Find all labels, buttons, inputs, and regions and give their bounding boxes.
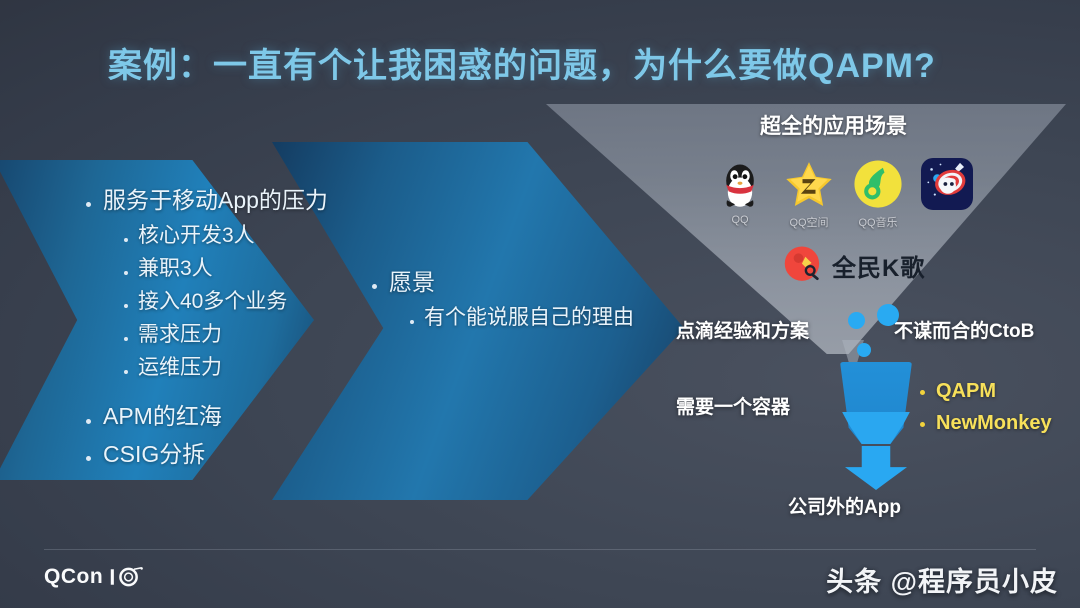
- list-item: 有个能说服自己的理由: [410, 307, 672, 329]
- bullet-dot-icon: [920, 390, 925, 395]
- product-list: QAPM NewMonkey: [920, 380, 1080, 444]
- list-item-label: 需求压力: [138, 324, 222, 346]
- karaoke-label: 全民K歌: [832, 248, 925, 283]
- qq-music-icon: [852, 158, 904, 210]
- karaoke-app-row: 全民K歌: [782, 243, 925, 287]
- bullet-dot-icon: [86, 202, 91, 207]
- bullet-dot-icon: [86, 419, 91, 424]
- annotation-experience: 点滴经验和方案: [676, 316, 809, 343]
- bullet-dot-icon: [124, 304, 128, 308]
- list-item: CSIG分拆: [86, 442, 366, 466]
- presentation-slide: 案例：一直有个让我困惑的问题，为什么要做QAPM? 服务于移动App的压力 核心…: [0, 0, 1080, 608]
- qq-zone-icon: [783, 158, 835, 210]
- list-item: QAPM: [920, 380, 1080, 403]
- watermark: 头条 @程序员小皮: [826, 560, 1058, 599]
- qcon-wordmark: QCon: [44, 565, 103, 589]
- list-item: 运维压力: [124, 357, 366, 379]
- stage-one-bullet-list: 服务于移动App的压力 核心开发3人 兼职3人 接入40多个业务 需求压力 运维…: [86, 188, 366, 479]
- list-item-label: APM的红海: [103, 404, 222, 428]
- page-title: 案例：一直有个让我困惑的问题，为什么要做QAPM?: [108, 38, 1008, 87]
- list-item: 服务于移动App的压力: [86, 188, 366, 212]
- app-caption: QQ: [731, 214, 748, 226]
- app-item-qq-zone: QQ空间: [781, 158, 837, 230]
- list-item: 兼职3人: [124, 258, 366, 280]
- list-item: 愿景: [372, 270, 672, 294]
- list-item: 需求压力: [124, 324, 366, 346]
- annotation-container: 需要一个容器: [676, 392, 790, 419]
- bullet-dot-icon: [410, 320, 414, 324]
- list-item-label: 兼职3人: [138, 258, 213, 280]
- list-item: APM的红海: [86, 404, 366, 428]
- list-item-label: 接入40多个业务: [138, 291, 287, 313]
- list-item-label: 核心开发3人: [138, 225, 255, 247]
- annotation-external-app: 公司外的App: [788, 492, 901, 519]
- down-arrow-icon: [845, 446, 907, 490]
- bullet-dot-icon: [86, 456, 91, 461]
- bullet-dot-icon: [372, 284, 377, 289]
- product-label: NewMonkey: [936, 412, 1052, 435]
- footer-divider: [44, 549, 1036, 550]
- bullet-dot-icon: [124, 370, 128, 374]
- app-item-kugou: [919, 158, 975, 214]
- product-label: QAPM: [936, 380, 996, 403]
- qq-icon: [714, 158, 766, 210]
- list-item: NewMonkey: [920, 412, 1080, 435]
- list-item: 核心开发3人: [124, 225, 366, 247]
- qcon-io-mark-icon: [110, 566, 144, 588]
- app-item-qq: QQ: [712, 158, 768, 226]
- app-caption: QQ空间: [789, 214, 828, 230]
- bullet-dot-icon: [920, 422, 925, 427]
- quanmin-kge-icon: [782, 243, 826, 287]
- stage-two-bullet-list: 愿景 有个能说服自己的理由: [372, 270, 672, 340]
- list-item: 接入40多个业务: [124, 291, 366, 313]
- bullet-dot-icon: [124, 238, 128, 242]
- bullet-dot-icon: [124, 337, 128, 341]
- list-item-label: 运维压力: [138, 357, 222, 379]
- app-caption: QQ音乐: [858, 214, 897, 230]
- annotation-ctob: 不谋而合的CtoB: [894, 316, 1034, 343]
- list-item-label: 愿景: [389, 270, 435, 294]
- app-icon-row: QQ QQ空间 QQ音乐: [712, 158, 1002, 253]
- droplet-icon: [877, 304, 899, 326]
- list-item-label: CSIG分拆: [103, 442, 205, 466]
- bullet-dot-icon: [124, 271, 128, 275]
- list-item-label: 有个能说服自己的理由: [424, 307, 634, 329]
- scene-title: 超全的应用场景: [760, 110, 1060, 140]
- droplet-icon: [848, 312, 865, 329]
- qcon-logo: QCon: [44, 565, 144, 589]
- app-item-qq-music: QQ音乐: [850, 158, 906, 230]
- list-item-label: 服务于移动App的压力: [103, 188, 328, 212]
- droplet-icon: [857, 343, 871, 357]
- kugou-icon: [921, 158, 973, 210]
